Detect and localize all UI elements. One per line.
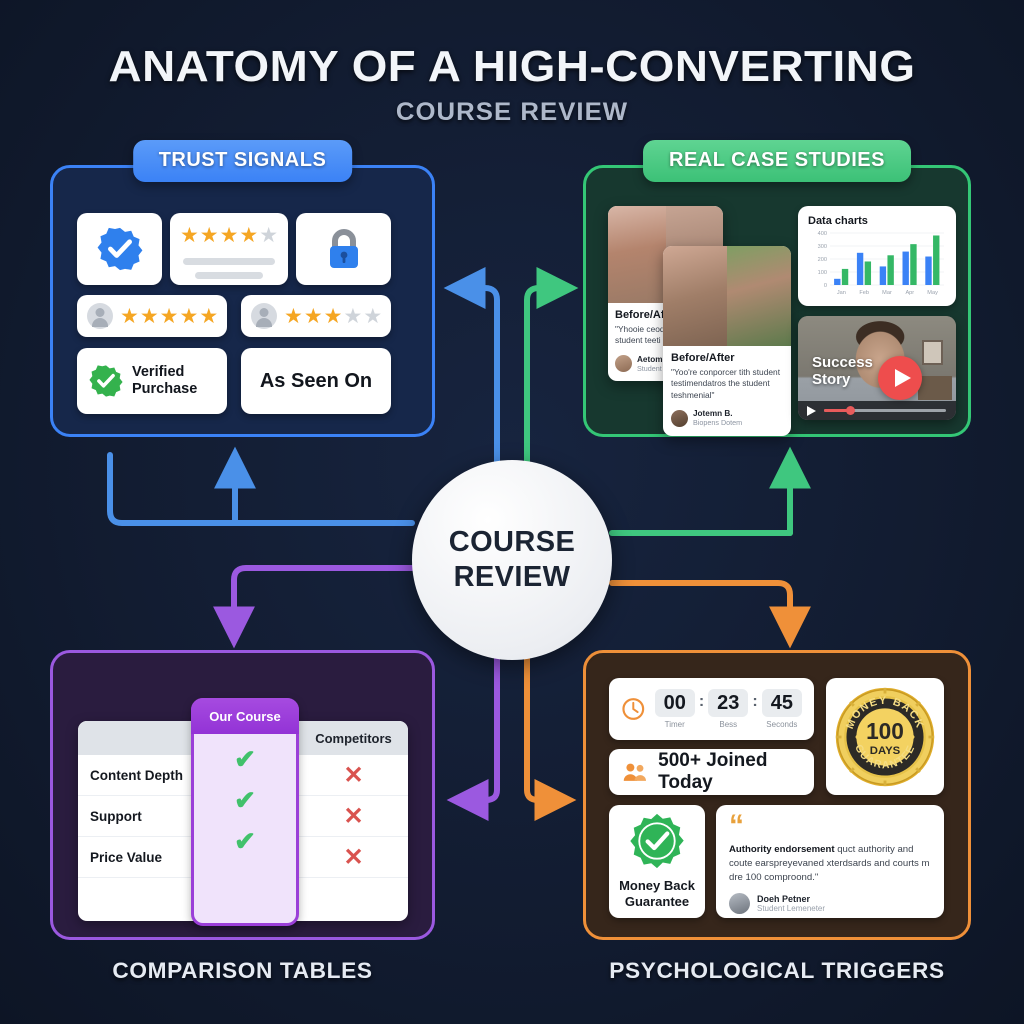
chart-title: Data charts — [808, 215, 946, 227]
svg-text:400: 400 — [818, 231, 827, 237]
bar-May-Blue — [925, 257, 931, 285]
video-progress-handle[interactable] — [846, 406, 855, 415]
svg-text:Jan: Jan — [837, 290, 846, 296]
cell-our-course: ✔ — [191, 821, 299, 862]
bar-chart: 0100200300400JanFebMarAprMay — [808, 229, 948, 297]
timer-hours-group: 00 Timer — [655, 689, 695, 729]
svg-text:200: 200 — [818, 257, 827, 263]
before-after-photos-front — [663, 246, 791, 346]
cell-our-course: ✔ — [191, 780, 299, 821]
testimonial-name-front: Jotemn B. — [693, 409, 742, 418]
review-stars-5: ★★★★★ — [120, 306, 218, 327]
panel-trust-signals[interactable]: TRUST SIGNALS ★★★★★ — [50, 165, 435, 437]
card-review-3-star[interactable]: ★★★★★ — [241, 295, 391, 337]
timer-separator: : — [752, 693, 757, 711]
bar-Apr-Green — [910, 244, 916, 285]
testimonial-avatar-front — [671, 410, 688, 427]
bar-May-Green — [933, 235, 939, 285]
padlock-icon — [324, 227, 364, 271]
play-small-icon[interactable] — [807, 406, 816, 416]
verified-check-badge-icon — [97, 226, 143, 272]
page-title: ANATOMY OF A HIGH-CONVERTING — [0, 42, 1024, 92]
testimonial-heading-front: Before/After — [671, 352, 783, 364]
card-data-charts[interactable]: Data charts 0100200300400JanFebMarAprMay — [798, 206, 956, 306]
bar-Feb-Blue — [857, 253, 863, 285]
bar-Mar-Green — [887, 255, 893, 285]
video-furniture — [918, 376, 952, 400]
svg-text:300: 300 — [818, 244, 827, 250]
video-control-bar[interactable] — [798, 401, 956, 420]
timer-seconds: 45 — [762, 689, 802, 717]
card-verified-purchase[interactable]: Verified Purchase — [77, 348, 227, 414]
green-check-seal-icon — [629, 813, 685, 869]
testimonial-avatar-back — [615, 355, 632, 372]
card-as-seen-on[interactable]: As Seen On — [241, 348, 391, 414]
video-picture-frame — [922, 340, 943, 365]
card-guarantee-badge[interactable]: MONEY BACK GUARANTEE 100 DAYS — [826, 678, 944, 795]
row-label: Support — [78, 796, 191, 836]
timer-hours: 00 — [655, 689, 695, 717]
testimonial-role-front: Biopens Dotem — [693, 418, 742, 427]
infographic-canvas: ANATOMY OF A HIGH-CONVERTING COURSE REVI… — [0, 0, 1024, 1024]
caption-psychological-triggers: PSYCHOLOGICAL TRIGGERS — [577, 958, 977, 984]
timer-minutes: 23 — [708, 689, 748, 717]
verified-purchase-text: Verified Purchase — [132, 364, 197, 397]
as-seen-on-label: As Seen On — [260, 370, 372, 393]
page-subtitle: COURSE REVIEW — [0, 98, 1024, 127]
reviewer-avatar — [251, 303, 277, 329]
cell-competitors: ✕ — [299, 796, 408, 836]
social-proof-text: 500+ Joined Today — [658, 750, 800, 794]
clock-icon — [621, 691, 646, 727]
testimonial-quote-front: "Yoo're conporcer tith student testimend… — [671, 367, 783, 401]
timer-seconds-group: 45 Seconds — [762, 689, 802, 729]
cell-competitors: ✕ — [299, 837, 408, 877]
column-header-our-course: Our Course — [191, 698, 299, 734]
timer-separator: : — [699, 693, 704, 711]
panel-trust-label: TRUST SIGNALS — [133, 140, 353, 182]
card-review-5-star[interactable]: ★★★★★ — [77, 295, 227, 337]
green-check-badge-icon — [89, 364, 123, 398]
bar-Jan-Blue — [834, 279, 840, 285]
money-back-text: Money Back Guarantee — [619, 878, 695, 909]
bar-Feb-Green — [865, 261, 871, 285]
card-success-story-video[interactable]: Success Story — [798, 316, 956, 420]
svg-text:Feb: Feb — [859, 290, 869, 296]
timer-minutes-group: 23 Bess — [708, 689, 748, 729]
testimonial-card-front[interactable]: Before/After "Yoo're conporcer tith stud… — [663, 246, 791, 436]
rating-stars: ★★★★★ — [182, 225, 276, 246]
money-back-guarantee-seal-icon: MONEY BACK GUARANTEE 100 DAYS — [833, 685, 937, 789]
card-rating[interactable]: ★★★★★ — [170, 213, 288, 285]
bar-Apr-Blue — [903, 252, 909, 285]
authority-quote-lead: Authority endorsement — [729, 844, 835, 855]
authority-quote-text: Authority endorsement quct authority and… — [729, 843, 931, 885]
badge-unit: DAYS — [870, 745, 901, 757]
timer-hours-label: Timer — [655, 720, 695, 729]
card-authority-quote[interactable]: “ Authority endorsement quct authority a… — [716, 805, 944, 918]
center-hub[interactable]: COURSE REVIEW — [412, 460, 612, 660]
svg-text:Apr: Apr — [905, 290, 914, 296]
svg-text:Mar: Mar — [882, 290, 892, 296]
video-label: Success Story — [812, 354, 873, 389]
testimonial-name-back: Aetom — [637, 355, 662, 364]
people-icon — [623, 760, 648, 784]
reviewer-avatar — [87, 303, 113, 329]
card-verified-badge[interactable] — [77, 213, 162, 285]
review-stars-3: ★★★★★ — [284, 306, 382, 327]
panel-cases-label: REAL CASE STUDIES — [643, 140, 911, 182]
bar-Jan-Green — [842, 269, 848, 285]
card-countdown-timer[interactable]: 00 Timer : 23 Bess : 45 Seconds — [609, 678, 814, 740]
testimonial-role-back: Student — [637, 364, 662, 373]
panel-real-case-studies[interactable]: REAL CASE STUDIES Before/Aft "Yhooie ceo… — [583, 165, 971, 437]
card-social-proof[interactable]: 500+ Joined Today — [609, 749, 814, 795]
timer-seconds-label: Seconds — [762, 720, 802, 729]
row-label: Price Value — [78, 837, 191, 877]
rating-text-line-2 — [195, 272, 263, 279]
svg-text:May: May — [927, 290, 938, 296]
hub-line-1: COURSE — [449, 526, 575, 559]
authority-avatar — [729, 893, 750, 914]
svg-text:100: 100 — [818, 270, 827, 276]
rating-text-line-1 — [183, 258, 275, 265]
panel-psychological-triggers[interactable]: 00 Timer : 23 Bess : 45 Seconds — [583, 650, 971, 940]
cell-competitors: ✕ — [299, 755, 408, 795]
hub-line-2: REVIEW — [454, 561, 571, 594]
bar-Mar-Blue — [880, 266, 886, 285]
timer-minutes-label: Bess — [708, 720, 748, 729]
card-money-back-guarantee[interactable]: Money Back Guarantee — [609, 805, 705, 918]
caption-comparison-tables: COMPARISON TABLES — [44, 958, 441, 984]
panel-comparison-tables[interactable]: Competitors Content Depth ✕ Support ✕ Pr… — [50, 650, 435, 940]
play-button-icon[interactable] — [878, 356, 922, 400]
svg-text:0: 0 — [824, 283, 827, 289]
card-security-lock[interactable] — [296, 213, 391, 285]
authority-role: Student Lemeneter — [757, 904, 825, 913]
authority-name: Doeh Petner — [757, 894, 825, 904]
column-header-competitors: Competitors — [299, 721, 408, 755]
quote-mark-icon: “ — [729, 814, 931, 838]
badge-number: 100 — [866, 717, 904, 743]
cell-our-course: ✔ — [191, 739, 299, 780]
row-label: Content Depth — [78, 755, 191, 795]
